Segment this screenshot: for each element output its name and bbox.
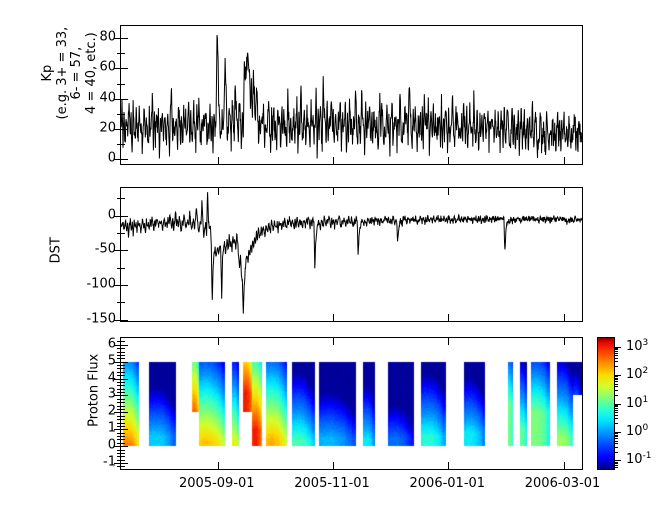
y-minor-tick <box>121 406 125 407</box>
y-tick-label: 1 <box>108 421 116 436</box>
colorbar-tick-label: 103 <box>626 337 648 353</box>
y-minor-tick <box>121 341 125 342</box>
y-minor-tick <box>121 433 125 434</box>
y-minor-tick <box>121 423 125 424</box>
y-minor-tick <box>121 416 125 417</box>
y-minor-tick <box>121 114 125 115</box>
y-major-tick <box>121 99 128 100</box>
y-minor-tick <box>121 456 125 457</box>
y-minor-tick <box>121 439 125 440</box>
y-minor-tick <box>121 453 125 454</box>
y-tick-label: 6 <box>108 336 116 351</box>
y-minor-tick <box>121 389 125 390</box>
y-minor-tick <box>121 382 125 383</box>
proton-flux-spectrogram <box>121 338 582 469</box>
colorbar-tick-label: 101 <box>626 394 648 410</box>
x-major-tick <box>564 157 565 164</box>
colorbar-minor-tick <box>614 452 618 453</box>
x-major-tick-top <box>564 338 565 345</box>
proton-flux-axis-title: Proton Flux <box>88 330 103 450</box>
y-major-tick <box>121 320 128 321</box>
x-major-tick-top <box>564 188 565 195</box>
x-major-tick <box>448 314 449 321</box>
y-tick-label: -100 <box>86 276 116 291</box>
colorbar-label-exponent: 0 <box>643 423 649 433</box>
dst-trace <box>121 188 582 321</box>
x-major-tick <box>564 462 565 469</box>
proton-flux-panel <box>120 337 583 470</box>
colorbar-tick-label: 10-1 <box>626 451 652 467</box>
colorbar-minor-tick <box>614 384 618 385</box>
y-minor-tick <box>121 268 125 269</box>
colorbar-minor-tick <box>614 435 618 436</box>
x-tick-label: 2006-01-01 <box>410 476 486 491</box>
flux-plot-area <box>121 338 582 469</box>
x-major-tick-top <box>448 188 449 195</box>
colorbar-minor-tick <box>614 348 618 349</box>
y-minor-tick <box>121 53 125 54</box>
y-minor-tick <box>121 233 125 234</box>
colorbar-label-mantissa: 10 <box>626 453 643 468</box>
y-major-tick <box>121 159 128 160</box>
y-minor-tick <box>121 355 125 356</box>
x-major-tick <box>448 157 449 164</box>
kp-title-line-3: 6- = 57, <box>70 0 85 148</box>
y-major-tick <box>121 379 128 380</box>
colorbar-minor-tick <box>614 386 618 387</box>
y-major-tick <box>121 446 128 447</box>
y-major-tick <box>121 129 128 130</box>
y-major-tick <box>121 250 128 251</box>
y-minor-tick <box>121 365 125 366</box>
colorbar-minor-tick <box>614 390 618 391</box>
colorbar-minor-tick <box>614 418 618 419</box>
colorbar-major-tick <box>614 375 621 376</box>
y-minor-tick <box>121 375 125 376</box>
y-minor-tick <box>121 450 125 451</box>
y-minor-tick <box>121 402 125 403</box>
y-minor-tick <box>121 426 125 427</box>
x-major-tick-top <box>333 338 334 345</box>
x-major-tick-top <box>333 188 334 195</box>
y-tick-label: 4 <box>108 370 116 385</box>
x-tick-label: 2005-09-01 <box>179 476 255 491</box>
y-tick-label: -150 <box>86 311 116 326</box>
y-tick-label: -50 <box>95 242 116 257</box>
y-tick-label: 60 <box>99 60 116 75</box>
colorbar-minor-tick <box>614 351 618 352</box>
y-minor-tick <box>121 466 125 467</box>
y-major-tick <box>121 412 128 413</box>
y-tick-label: 3 <box>108 387 116 402</box>
colorbar-minor-tick <box>614 436 618 437</box>
colorbar-minor-tick <box>614 405 618 406</box>
y-major-tick <box>121 216 128 217</box>
colorbar-minor-tick <box>614 423 618 424</box>
colorbar-minor-tick <box>614 433 618 434</box>
colorbar-minor-tick <box>614 438 618 439</box>
colorbar-tick-label: 100 <box>626 423 648 439</box>
colorbar-minor-tick <box>614 463 618 464</box>
y-major-tick <box>121 463 128 464</box>
figure-canvas: 020406080 Kp (e.g. 3+ = 33, 6- = 57, 4 =… <box>0 0 665 523</box>
x-major-tick <box>218 157 219 164</box>
x-major-tick <box>218 314 219 321</box>
y-tick-label: 0 <box>108 438 116 453</box>
y-minor-tick <box>121 144 125 145</box>
y-tick-label: 5 <box>108 353 116 368</box>
colorbar-minor-tick <box>614 381 618 382</box>
x-major-tick <box>333 314 334 321</box>
colorbar-minor-tick <box>614 361 618 362</box>
colorbar-label-mantissa: 10 <box>626 367 643 382</box>
colorbar-minor-tick <box>614 358 618 359</box>
colorbar-minor-tick <box>614 353 618 354</box>
x-major-tick <box>564 314 565 321</box>
y-minor-tick <box>121 392 125 393</box>
colorbar-minor-tick <box>614 379 618 380</box>
y-minor-tick <box>121 419 125 420</box>
kp-panel <box>120 25 583 165</box>
colorbar-major-tick <box>614 404 621 405</box>
colorbar-minor-tick <box>614 408 618 409</box>
kp-trace <box>121 26 582 164</box>
y-major-tick <box>121 395 128 396</box>
y-tick-label: 0 <box>108 151 116 166</box>
colorbar-minor-tick <box>614 415 618 416</box>
kp-title-line-1: Kp <box>41 0 56 148</box>
colorbar-major-tick <box>614 460 621 461</box>
y-major-tick <box>121 68 128 69</box>
colorbar-label-exponent: 1 <box>643 394 649 404</box>
y-minor-tick <box>121 409 125 410</box>
y-minor-tick <box>121 84 125 85</box>
colorbar-minor-tick <box>614 443 618 444</box>
colorbar-label-exponent: 3 <box>643 337 649 347</box>
colorbar-minor-tick <box>614 465 618 466</box>
x-tick-label: 2005-11-01 <box>294 476 370 491</box>
y-minor-tick <box>121 436 125 437</box>
y-minor-tick <box>121 443 125 444</box>
kp-plot-area <box>121 26 582 164</box>
y-minor-tick <box>121 460 125 461</box>
colorbar-minor-tick <box>614 406 618 407</box>
dst-plot-area <box>121 188 582 321</box>
y-major-tick <box>121 38 128 39</box>
x-major-tick <box>448 462 449 469</box>
x-major-tick-top <box>218 338 219 345</box>
colorbar-minor-tick <box>614 366 618 367</box>
colorbar-label-mantissa: 10 <box>626 396 643 411</box>
x-major-tick-top <box>218 188 219 195</box>
colorbar-minor-tick <box>614 447 618 448</box>
y-minor-tick <box>121 399 125 400</box>
x-major-tick <box>333 462 334 469</box>
y-tick-label: 40 <box>99 90 116 105</box>
dst-axis-title: DST <box>50 210 65 290</box>
y-minor-tick <box>121 302 125 303</box>
y-minor-tick <box>121 368 125 369</box>
colorbar-minor-tick <box>614 395 618 396</box>
y-major-tick <box>121 345 128 346</box>
y-major-tick <box>121 285 128 286</box>
x-major-tick <box>218 462 219 469</box>
colorbar-minor-tick <box>614 378 618 379</box>
y-minor-tick <box>121 198 125 199</box>
colorbar-minor-tick <box>614 467 618 468</box>
y-minor-tick <box>121 385 125 386</box>
colorbar-minor-tick <box>614 376 618 377</box>
y-tick-label: 2 <box>108 404 116 419</box>
y-major-tick <box>121 362 128 363</box>
colorbar-minor-tick <box>614 349 618 350</box>
colorbar-minor-tick <box>614 462 618 463</box>
x-major-tick <box>333 157 334 164</box>
kp-axis-title: Kp (e.g. 3+ = 33, 6- = 57, 4 = 40, etc.) <box>41 0 99 148</box>
x-major-tick-top <box>448 338 449 345</box>
kp-title-line-4: 4 = 40, etc.) <box>85 0 100 148</box>
kp-title-line-2: (e.g. 3+ = 33, <box>55 0 70 148</box>
y-minor-tick <box>121 372 125 373</box>
colorbar-major-tick <box>614 347 621 348</box>
colorbar-major-tick <box>614 432 621 433</box>
colorbar-tick-label: 102 <box>626 366 648 382</box>
colorbar-minor-tick <box>614 355 618 356</box>
colorbar-minor-tick <box>614 412 618 413</box>
y-minor-tick <box>121 352 125 353</box>
colorbar-minor-tick <box>614 410 618 411</box>
dst-panel <box>120 187 583 322</box>
y-minor-tick <box>121 358 125 359</box>
y-tick-label: 0 <box>108 207 116 222</box>
x-tick-label: 2006-03-01 <box>525 476 601 491</box>
y-tick-label: 20 <box>99 121 116 136</box>
y-tick-label: 80 <box>99 30 116 45</box>
colorbar-label-exponent: -1 <box>643 451 652 461</box>
colorbar-label-exponent: 2 <box>643 366 649 376</box>
y-major-tick <box>121 429 128 430</box>
colorbar-minor-tick <box>614 441 618 442</box>
y-minor-tick <box>121 348 125 349</box>
colorbar <box>597 337 615 470</box>
y-tick-label: -1 <box>103 455 116 470</box>
colorbar-label-mantissa: 10 <box>626 424 643 439</box>
colorbar-label-mantissa: 10 <box>626 339 643 354</box>
